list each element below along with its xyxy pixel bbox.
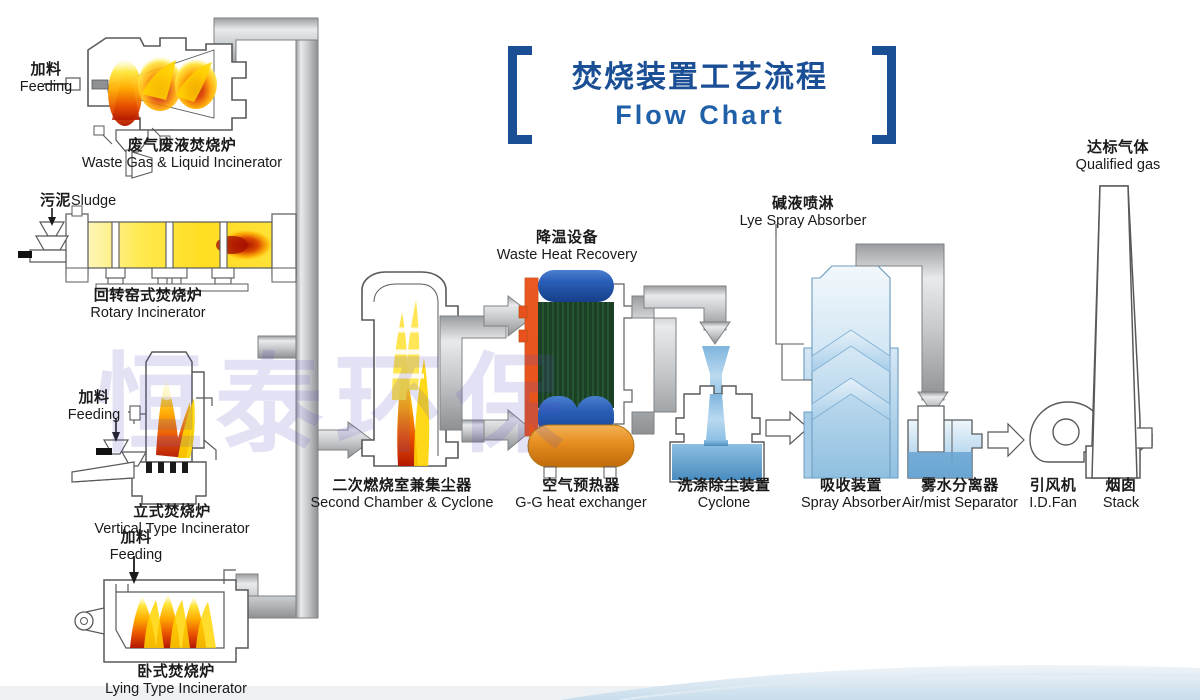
vertical-type-incinerator	[72, 352, 216, 504]
waste-gas-liquid-incinerator	[44, 38, 246, 178]
cyclone-washing-device	[670, 346, 808, 482]
lying-type-incinerator	[75, 556, 248, 662]
page-title-en: Flow Chart	[500, 100, 900, 131]
duct-chamber-to-heat-recovery	[432, 296, 534, 450]
rotary-kiln-incinerator	[18, 206, 296, 291]
flow-chart-diagram: 焚烧装置工艺流程 Flow Chart 恒泰环保 加料 Feeding 废气废液…	[0, 0, 1200, 700]
waste-heat-recovery-unit	[519, 270, 632, 450]
gg-heat-exchanger	[528, 425, 634, 478]
air-mist-separator	[908, 406, 1024, 478]
page-title-cn: 焚烧装置工艺流程	[500, 52, 900, 96]
chart-title-block: 焚烧装置工艺流程 Flow Chart	[500, 42, 900, 147]
stack	[1086, 186, 1152, 478]
bottom-decorative-curve	[0, 665, 1200, 700]
